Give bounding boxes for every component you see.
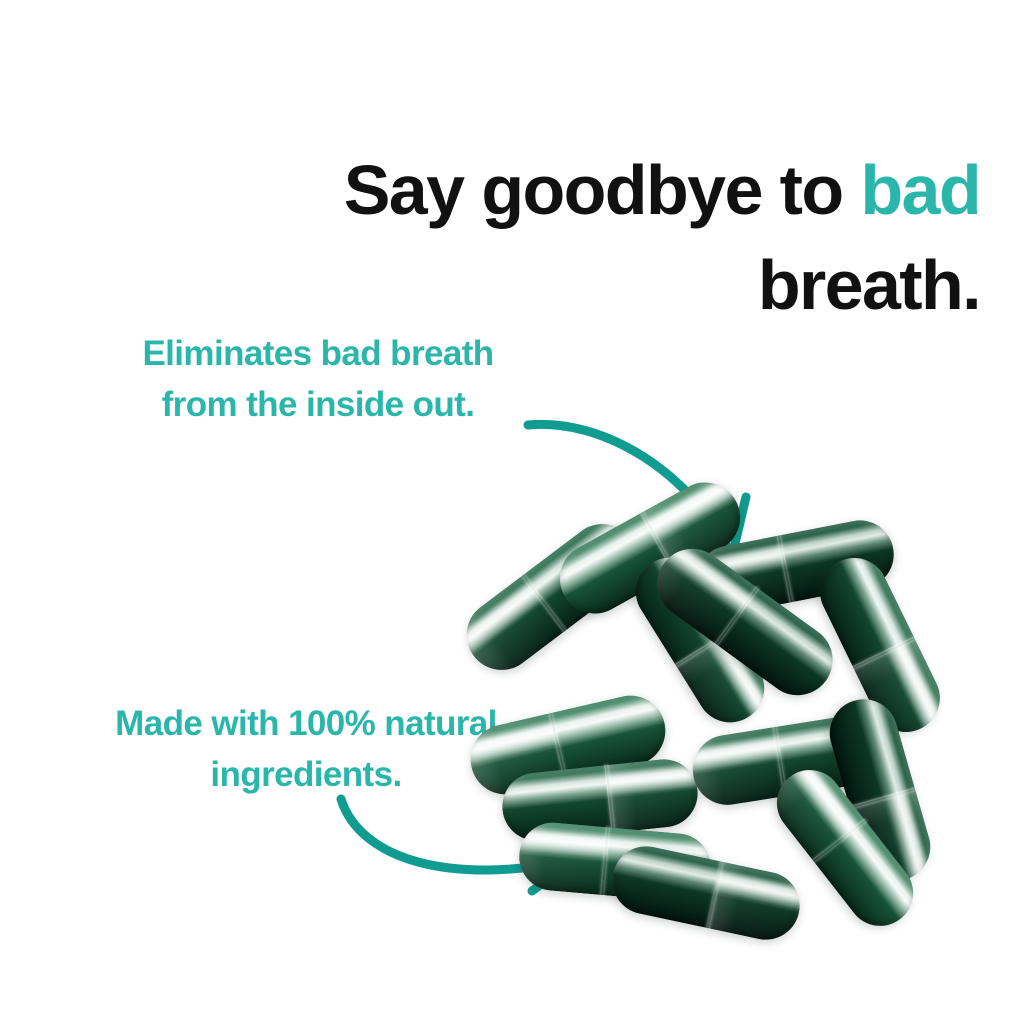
page-title: Say goodbye to bad breath. [120,143,980,333]
callout-text-eliminates-bad-breath: Eliminates bad breath from the inside ou… [72,328,564,431]
ad-creative: Say goodbye to bad breath. Eliminates ba… [0,0,1024,1024]
headline-line2: breath. [758,246,980,324]
headline-accent-word: bad [860,151,980,229]
headline-line1-lead: Say goodbye to [344,151,861,229]
